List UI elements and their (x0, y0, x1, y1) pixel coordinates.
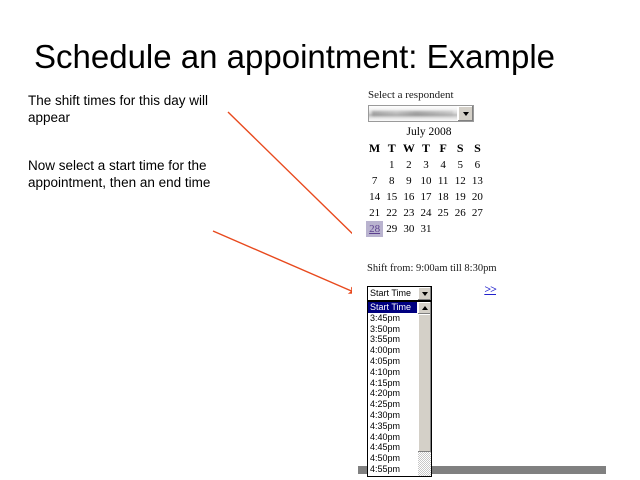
scheduling-app-panel: Select a respondent July 2008 M T W T F … (352, 82, 606, 466)
page-title: Schedule an appointment: Example (34, 38, 555, 76)
start-time-option-list[interactable]: Start Time3:45pm3:50pm3:55pm4:00pm4:05pm… (367, 301, 432, 477)
calendar-week-row: 78910111213 (366, 173, 486, 189)
shift-hours-text: Shift from: 9:00am till 8:30pm (367, 263, 497, 274)
weekday-header: F (435, 140, 452, 157)
calendar-empty-cell (452, 221, 469, 237)
weekday-header: W (400, 140, 417, 157)
weekday-header: S (469, 140, 486, 157)
calendar-day[interactable]: 25 (435, 205, 452, 221)
calendar-day[interactable]: 2 (400, 157, 417, 173)
listbox-option[interactable]: 4:40pm (368, 432, 417, 443)
calendar-empty-cell (469, 221, 486, 237)
calendar-day[interactable]: 27 (469, 205, 486, 221)
calendar-day[interactable]: 31 (417, 221, 434, 237)
scrollbar-thumb[interactable] (418, 314, 431, 452)
listbox-option[interactable]: 4:15pm (368, 378, 417, 389)
listbox-option[interactable]: 3:50pm (368, 324, 417, 335)
chevron-up-icon[interactable] (418, 302, 431, 314)
respondent-dropdown[interactable] (368, 105, 474, 122)
calendar-week-row: 21222324252627 (366, 205, 486, 221)
calendar-day[interactable]: 18 (435, 189, 452, 205)
annotation-select-start-time: Now select a start time for the appointm… (28, 157, 240, 191)
respondent-selected-value (369, 106, 457, 121)
listbox-option[interactable]: 4:05pm (368, 356, 417, 367)
calendar-day[interactable]: 4 (435, 157, 452, 173)
calendar-day[interactable]: 10 (417, 173, 434, 189)
calendar-day[interactable]: 20 (469, 189, 486, 205)
calendar-day[interactable]: 7 (366, 173, 383, 189)
annotation-shift-times: The shift times for this day will appear (28, 92, 243, 126)
calendar-day[interactable]: 15 (383, 189, 400, 205)
listbox-option[interactable]: 4:00pm (368, 345, 417, 356)
arrow-to-start-time (213, 231, 356, 293)
calendar-widget[interactable]: July 2008 M T W T F S S 1234567891011121… (366, 126, 486, 237)
arrow-to-calendar-nav (228, 112, 362, 243)
listbox-option[interactable]: 3:45pm (368, 313, 417, 324)
calendar-day[interactable]: 17 (417, 189, 434, 205)
start-time-combobox[interactable]: Start Time (367, 286, 432, 301)
listbox-option[interactable]: 4:20pm (368, 388, 417, 399)
calendar-day[interactable]: 11 (435, 173, 452, 189)
calendar-day[interactable]: 23 (400, 205, 417, 221)
calendar-grid: M T W T F S S 12345678910111213141516171… (366, 140, 486, 237)
calendar-empty-cell (435, 221, 452, 237)
calendar-day[interactable]: 30 (400, 221, 417, 237)
calendar-day[interactable]: 22 (383, 205, 400, 221)
calendar-day[interactable]: 3 (417, 157, 434, 173)
listbox-option[interactable]: 4:25pm (368, 399, 417, 410)
listbox-option-selected[interactable]: Start Time (368, 302, 417, 313)
listbox-option[interactable]: 4:30pm (368, 410, 417, 421)
calendar-day[interactable]: 14 (366, 189, 383, 205)
listbox-option[interactable]: 3:55pm (368, 334, 417, 345)
start-time-options-container: Start Time3:45pm3:50pm3:55pm4:00pm4:05pm… (368, 302, 417, 476)
listbox-option[interactable]: 4:35pm (368, 421, 417, 432)
listbox-option[interactable]: 4:10pm (368, 367, 417, 378)
chevron-down-icon[interactable] (457, 106, 473, 121)
listbox-option[interactable]: 4:50pm (368, 453, 417, 464)
calendar-weekday-row: M T W T F S S (366, 140, 486, 157)
calendar-day[interactable]: 13 (469, 173, 486, 189)
weekday-header: T (417, 140, 434, 157)
weekday-header: S (452, 140, 469, 157)
calendar-day[interactable]: 5 (452, 157, 469, 173)
calendar-day[interactable]: 8 (383, 173, 400, 189)
calendar-day[interactable]: 29 (383, 221, 400, 237)
calendar-body: 1234567891011121314151617181920212223242… (366, 157, 486, 237)
calendar-day[interactable]: 16 (400, 189, 417, 205)
chevron-down-icon[interactable] (418, 287, 431, 300)
listbox-scrollbar[interactable] (417, 302, 431, 476)
calendar-empty-cell (366, 157, 383, 173)
calendar-week-row: 14151617181920 (366, 189, 486, 205)
calendar-day[interactable]: 19 (452, 189, 469, 205)
calendar-day[interactable]: 24 (417, 205, 434, 221)
calendar-week-row: 123456 (366, 157, 486, 173)
calendar-day[interactable]: 12 (452, 173, 469, 189)
respondent-label: Select a respondent (368, 89, 454, 101)
calendar-month-label: July 2008 (366, 126, 486, 140)
calendar-day[interactable]: 9 (400, 173, 417, 189)
calendar-day[interactable]: 21 (366, 205, 383, 221)
weekday-header: T (383, 140, 400, 157)
scrollbar-track[interactable] (418, 314, 431, 476)
calendar-day[interactable]: 26 (452, 205, 469, 221)
calendar-week-row: 28293031 (366, 221, 486, 237)
calendar-day[interactable]: 6 (469, 157, 486, 173)
calendar-next-link[interactable]: >> (484, 282, 496, 297)
weekday-header: M (366, 140, 383, 157)
calendar-day-selected[interactable]: 28 (366, 221, 383, 237)
listbox-option[interactable]: 4:45pm (368, 442, 417, 453)
listbox-option[interactable]: 4:55pm (368, 464, 417, 475)
start-time-selected-value: Start Time (368, 287, 418, 300)
calendar-day[interactable]: 1 (383, 157, 400, 173)
